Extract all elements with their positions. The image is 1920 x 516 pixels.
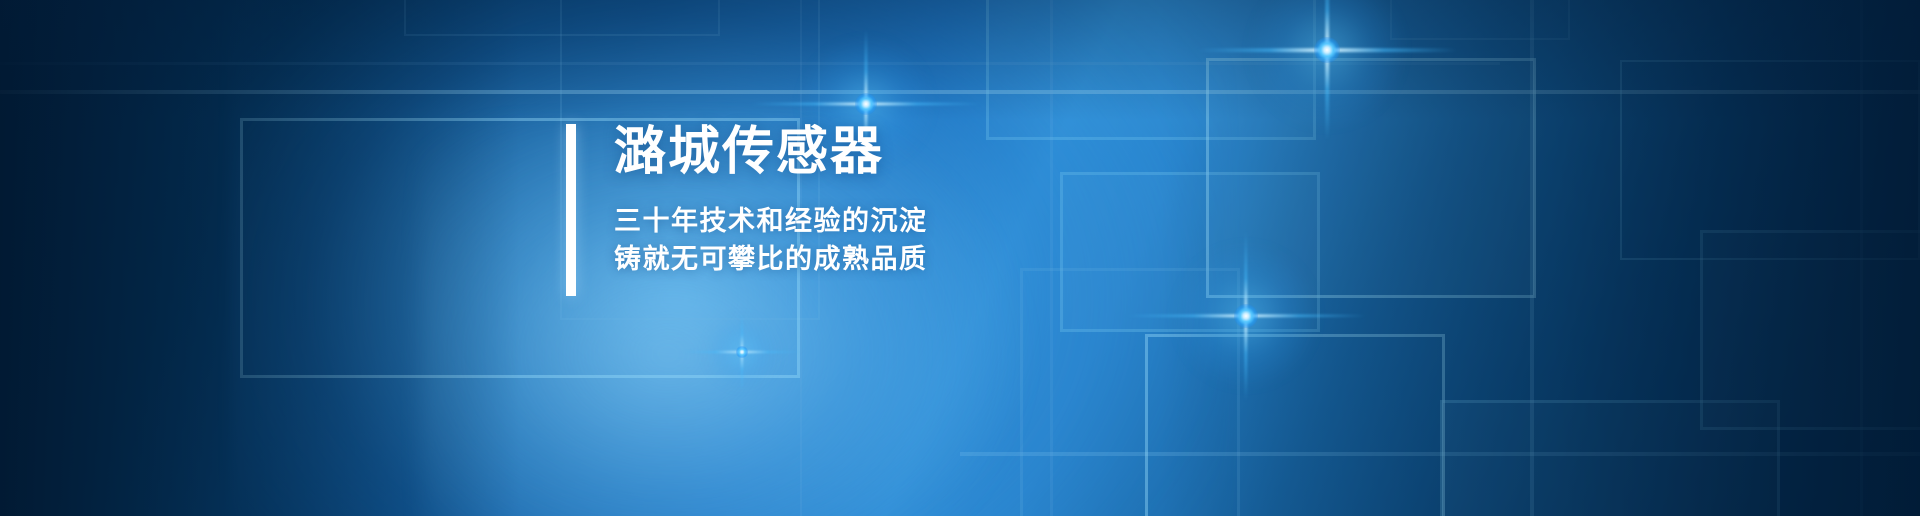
flare-vertical-beam — [1244, 231, 1247, 401]
banner-title: 潞城传感器 — [614, 124, 928, 180]
flare-core — [1234, 304, 1258, 328]
flare-halo — [706, 316, 778, 388]
flare-horizontal-beam — [1126, 314, 1366, 317]
accent-bar — [566, 124, 576, 296]
banner-text-block: 潞城传感器 三十年技术和经验的沉淀 铸就无可攀比的成熟品质 — [566, 124, 928, 296]
lens-flare-layer — [0, 0, 1920, 516]
flare-core — [736, 346, 748, 358]
flare-horizontal-beam — [751, 102, 981, 105]
flare-core — [1314, 37, 1340, 63]
flare-vertical-beam — [741, 312, 743, 392]
banner-subtitle-line-1: 三十年技术和经验的沉淀 — [614, 202, 928, 240]
flare-vertical-beam — [1325, 0, 1329, 140]
flare-horizontal-beam — [682, 351, 802, 353]
flare-halo — [1174, 244, 1318, 388]
hero-banner: 潞城传感器 三十年技术和经验的沉淀 铸就无可攀比的成熟品质 — [0, 0, 1920, 516]
flare-horizontal-beam — [1197, 48, 1457, 52]
banner-text-column: 潞城传感器 三十年技术和经验的沉淀 铸就无可攀比的成熟品质 — [576, 124, 928, 296]
flare-core — [855, 93, 877, 115]
flare-halo — [1249, 0, 1405, 128]
banner-subtitle-line-2: 铸就无可攀比的成熟品质 — [614, 240, 928, 278]
